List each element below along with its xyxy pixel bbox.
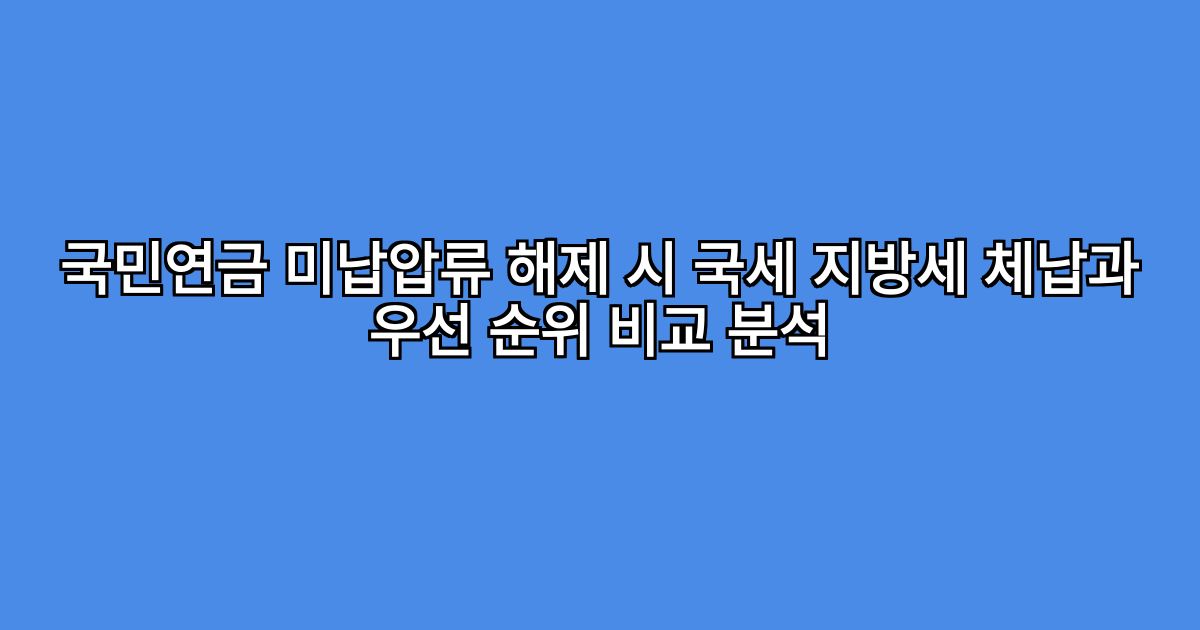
page-title: 국민연금 미납압류 해제 시 국세 지방세 체납과 우선 순위 비교 분석: [50, 239, 1150, 363]
title-line-1: 국민연금 미납압류 해제 시 국세 지방세 체납과: [50, 239, 1150, 301]
title-line-2: 우선 순위 비교 분석: [50, 301, 1150, 363]
thumbnail-card: 국민연금 미납압류 해제 시 국세 지방세 체납과 우선 순위 비교 분석: [0, 0, 1200, 630]
title-block: 국민연금 미납압류 해제 시 국세 지방세 체납과 우선 순위 비교 분석: [50, 239, 1150, 363]
